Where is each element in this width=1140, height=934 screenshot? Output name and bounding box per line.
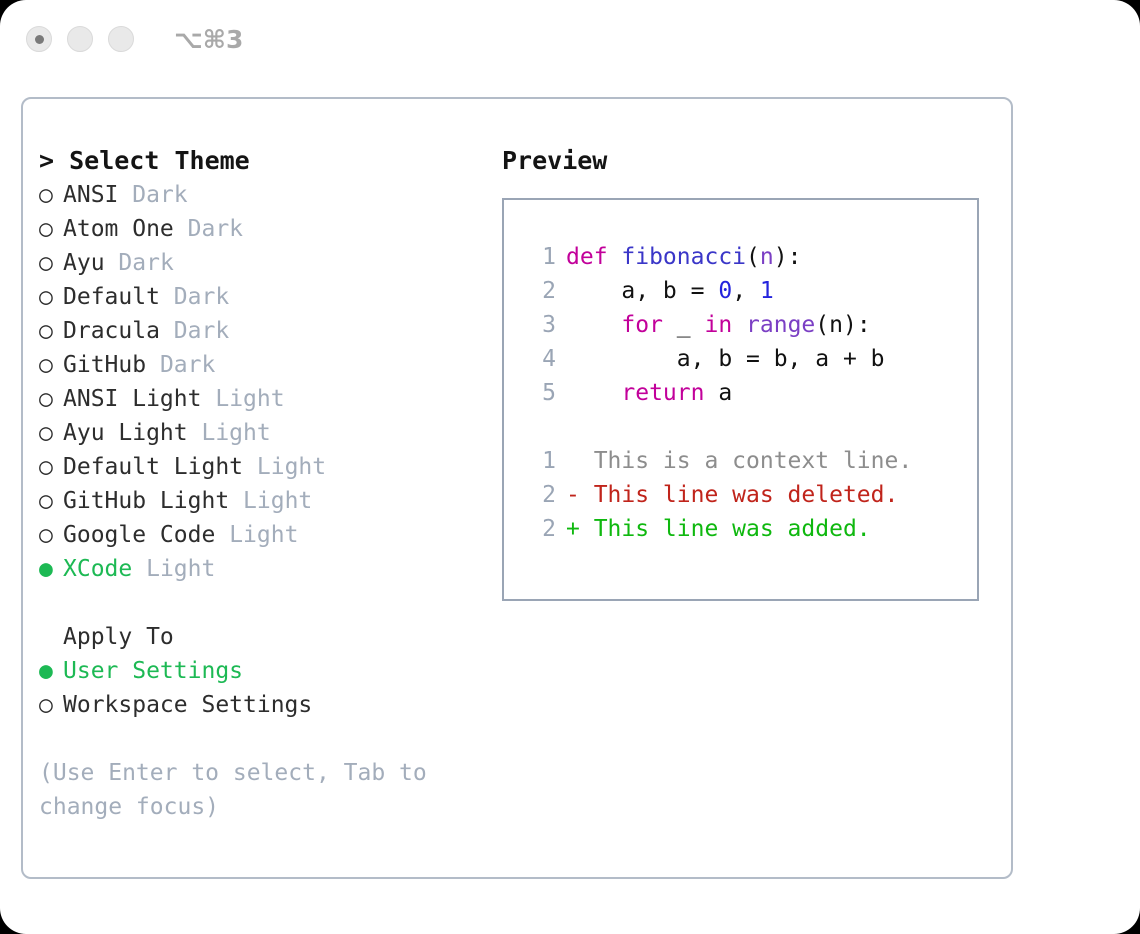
theme-name: GitHub Light <box>63 488 229 514</box>
apply-to-option-user-settings[interactable]: ●User Settings <box>39 654 499 688</box>
radio-unselected-icon: ○ <box>39 178 63 212</box>
radio-unselected-icon: ○ <box>39 518 63 552</box>
code-token: in <box>704 312 732 338</box>
theme-kind-badge: Light <box>257 454 326 480</box>
keyboard-shortcut-label: ⌥⌘3 <box>174 25 243 54</box>
code-token: n <box>760 244 774 270</box>
code-token <box>732 312 746 338</box>
theme-kind-badge: Dark <box>174 284 229 310</box>
radio-unselected-icon: ○ <box>39 688 63 722</box>
code-token: (n): <box>815 312 870 338</box>
app-window: ⌥⌘3 > Select Theme ○ANSI Dark○Atom One D… <box>0 0 1140 934</box>
theme-name: Default Light <box>63 454 243 480</box>
window-light-active-icon[interactable] <box>26 26 52 52</box>
diff-line: 1 This is a context line. <box>522 444 977 478</box>
theme-option-github-light[interactable]: ○GitHub Light Light <box>39 484 499 518</box>
line-number: 2 <box>522 274 556 308</box>
radio-selected-icon: ● <box>39 654 63 688</box>
diff-text-add: + This line was added. <box>566 516 871 542</box>
radio-unselected-icon: ○ <box>39 484 63 518</box>
code-token: 1 <box>760 278 774 304</box>
theme-kind-badge: Light <box>201 420 270 446</box>
radio-unselected-icon: ○ <box>39 246 63 280</box>
theme-name: Dracula <box>63 318 160 344</box>
theme-name: ANSI Light <box>63 386 201 412</box>
code-token <box>566 312 621 338</box>
theme-option-google-code[interactable]: ○Google Code Light <box>39 518 499 552</box>
code-token: _ <box>663 312 705 338</box>
active-dot-icon <box>35 35 44 44</box>
theme-option-dracula[interactable]: ○Dracula Dark <box>39 314 499 348</box>
apply-to-label: Apply To <box>39 620 499 654</box>
preview-box: 1def fibonacci(n):2 a, b = 0, 13 for _ i… <box>502 198 979 601</box>
theme-option-ansi[interactable]: ○ANSI Dark <box>39 178 499 212</box>
code-line: 2 a, b = 0, 1 <box>522 274 977 308</box>
code-token: return <box>621 380 704 406</box>
theme-option-ayu-light[interactable]: ○Ayu Light Light <box>39 416 499 450</box>
code-token: ( <box>746 244 760 270</box>
title-bar: ⌥⌘3 <box>0 0 1140 78</box>
theme-option-atom-one[interactable]: ○Atom One Dark <box>39 212 499 246</box>
radio-unselected-icon: ○ <box>39 212 63 246</box>
code-line: 5 return a <box>522 376 977 410</box>
apply-to-name: Workspace Settings <box>63 692 312 718</box>
theme-option-xcode[interactable]: ●XCode Light <box>39 552 499 586</box>
keyboard-hint-text: (Use Enter to select, Tab to change focu… <box>39 756 459 824</box>
code-token: 0 <box>718 278 732 304</box>
code-token: , <box>732 278 760 304</box>
apply-to-list: ●User Settings○Workspace Settings <box>39 654 499 722</box>
theme-option-ayu[interactable]: ○Ayu Dark <box>39 246 499 280</box>
theme-name: Google Code <box>63 522 215 548</box>
window-light-3-icon[interactable] <box>108 26 134 52</box>
theme-kind-badge: Dark <box>188 216 243 242</box>
theme-option-github[interactable]: ○GitHub Dark <box>39 348 499 382</box>
theme-name: ANSI <box>63 182 118 208</box>
line-number: 2 <box>522 478 556 512</box>
code-preview: 1def fibonacci(n):2 a, b = 0, 13 for _ i… <box>522 240 977 410</box>
code-token: a, b = b, a + b <box>566 346 885 372</box>
theme-name: Ayu <box>63 250 105 276</box>
radio-unselected-icon: ○ <box>39 314 63 348</box>
theme-option-default-light[interactable]: ○Default Light Light <box>39 450 499 484</box>
theme-name: Ayu Light <box>63 420 188 446</box>
radio-unselected-icon: ○ <box>39 348 63 382</box>
code-token: ): <box>774 244 802 270</box>
line-number: 2 <box>522 512 556 546</box>
preview-heading: Preview <box>502 144 1002 178</box>
theme-kind-badge: Dark <box>174 318 229 344</box>
apply-to-name: User Settings <box>63 658 243 684</box>
diff-line: 2- This line was deleted. <box>522 478 977 512</box>
theme-name: Default <box>63 284 160 310</box>
code-token: range <box>746 312 815 338</box>
content-panel: > Select Theme ○ANSI Dark○Atom One Dark○… <box>21 97 1013 879</box>
theme-kind-badge: Dark <box>132 182 187 208</box>
theme-kind-badge: Dark <box>160 352 215 378</box>
theme-kind-badge: Light <box>243 488 312 514</box>
code-token: a <box>704 380 732 406</box>
theme-kind-badge: Light <box>215 386 284 412</box>
window-light-2-icon[interactable] <box>67 26 93 52</box>
theme-option-ansi-light[interactable]: ○ANSI Light Light <box>39 382 499 416</box>
code-token: a, b = <box>566 278 718 304</box>
apply-to-option-workspace-settings[interactable]: ○Workspace Settings <box>39 688 499 722</box>
theme-kind-badge: Light <box>229 522 298 548</box>
radio-selected-icon: ● <box>39 552 63 586</box>
theme-selector-column: > Select Theme ○ANSI Dark○Atom One Dark○… <box>39 144 499 824</box>
code-token: for <box>621 312 663 338</box>
radio-unselected-icon: ○ <box>39 280 63 314</box>
theme-name: GitHub <box>63 352 146 378</box>
code-token: def <box>566 244 621 270</box>
theme-option-default[interactable]: ○Default Dark <box>39 280 499 314</box>
diff-text-del: - This line was deleted. <box>566 482 898 508</box>
theme-name: XCode <box>63 556 132 582</box>
theme-name: Atom One <box>63 216 174 242</box>
theme-kind-badge: Light <box>146 556 215 582</box>
code-line: 1def fibonacci(n): <box>522 240 977 274</box>
line-number: 1 <box>522 240 556 274</box>
radio-unselected-icon: ○ <box>39 450 63 484</box>
radio-unselected-icon: ○ <box>39 416 63 450</box>
preview-column: Preview 1def fibonacci(n):2 a, b = 0, 13… <box>502 144 1002 601</box>
theme-kind-badge: Dark <box>118 250 173 276</box>
window-controls <box>26 26 134 52</box>
code-token: fibonacci <box>621 244 746 270</box>
radio-unselected-icon: ○ <box>39 382 63 416</box>
line-number: 5 <box>522 376 556 410</box>
diff-line: 2+ This line was added. <box>522 512 977 546</box>
diff-text-ctx: This is a context line. <box>566 448 912 474</box>
select-theme-heading: > Select Theme <box>39 144 499 178</box>
line-number: 3 <box>522 308 556 342</box>
code-line: 4 a, b = b, a + b <box>522 342 977 376</box>
code-token <box>566 380 621 406</box>
line-number: 1 <box>522 444 556 478</box>
theme-list: ○ANSI Dark○Atom One Dark○Ayu Dark○Defaul… <box>39 178 499 586</box>
diff-preview: 1 This is a context line.2- This line wa… <box>522 444 977 546</box>
code-line: 3 for _ in range(n): <box>522 308 977 342</box>
line-number: 4 <box>522 342 556 376</box>
